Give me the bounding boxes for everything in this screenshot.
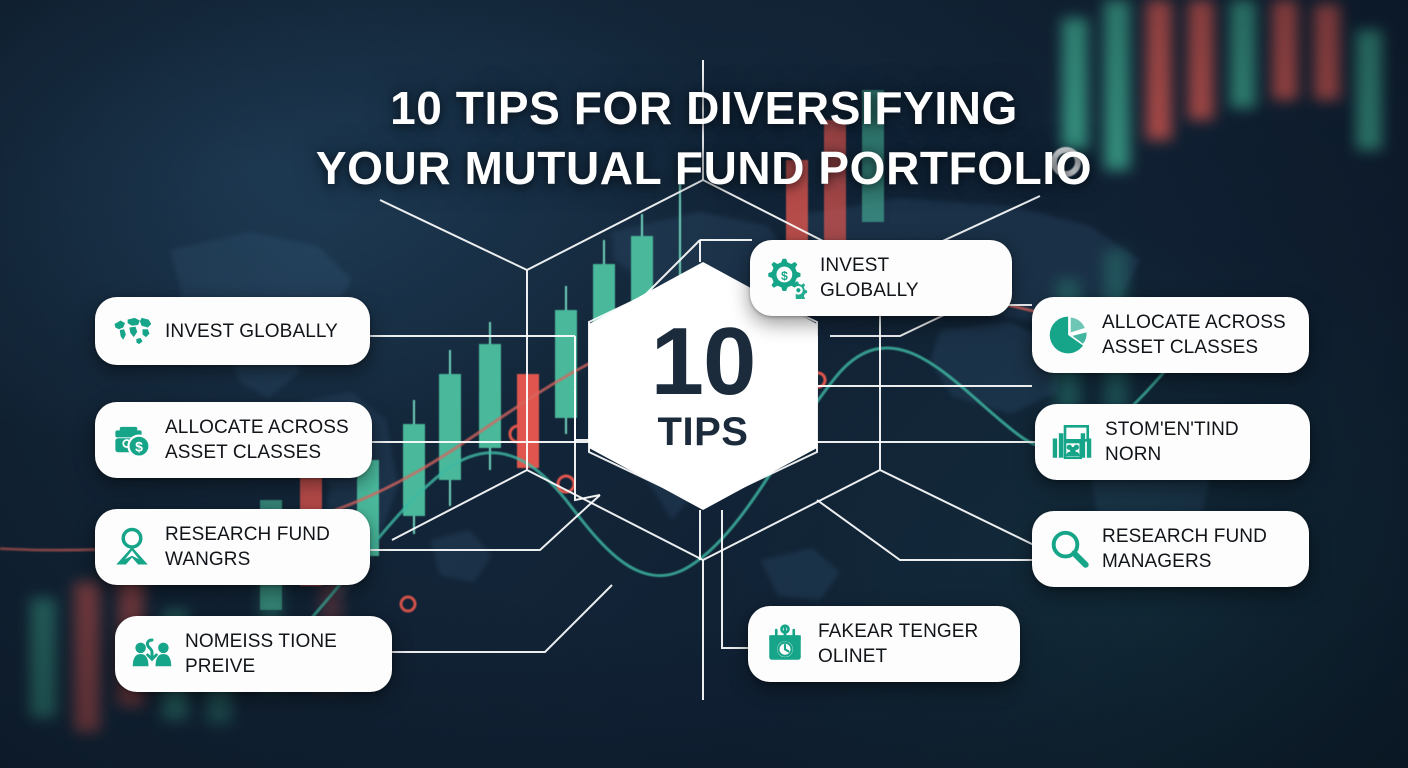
- tip-card-top-1[interactable]: $ INVEST GLOBALLY: [750, 240, 1012, 316]
- infographic-canvas: 10 TIPS FOR DIVERSIFYING YOUR MUTUAL FUN…: [0, 0, 1408, 768]
- tip-card-right-1-label: ALLOCATE ACROSS ASSET CLASSES: [1102, 310, 1286, 360]
- team-presentation-icon: [1051, 421, 1093, 463]
- hub-number: 10: [651, 317, 756, 407]
- world-map-icon: [111, 310, 153, 352]
- svg-text:$: $: [135, 438, 143, 454]
- tip-card-left-2-label: ALLOCATE ACROSS ASSET CLASSES: [165, 415, 349, 465]
- tip-card-right-3[interactable]: RESEARCH FUND MANAGERS: [1032, 511, 1309, 587]
- pie-chart-icon: [1048, 314, 1090, 356]
- calendar-clock-icon: [764, 623, 806, 665]
- fund-badge-icon: [111, 526, 153, 568]
- tip-card-top-1-label: INVEST GLOBALLY: [820, 253, 992, 303]
- tip-card-left-2[interactable]: $ ALLOCATE ACROSS ASSET CLASSES: [95, 402, 372, 478]
- svg-text:$: $: [781, 269, 788, 283]
- money-case-icon: $: [111, 419, 153, 461]
- tip-card-left-3-label: RESEARCH FUND WANGRS: [165, 522, 330, 572]
- magnifier-icon: [1048, 528, 1090, 570]
- tip-card-right-2[interactable]: STOM'EN'TIND NORN: [1035, 404, 1310, 480]
- tip-card-bottom-1-label: FAKEAR TENGER OLINET: [818, 619, 978, 669]
- tip-card-left-3[interactable]: RESEARCH FUND WANGRS: [95, 509, 370, 585]
- hub-label: TIPS: [658, 410, 749, 455]
- tip-card-left-4-label: NOMEISS TIONE PREIVE: [185, 629, 337, 679]
- gear-dollar-icon: $: [766, 257, 808, 299]
- tip-card-right-3-label: RESEARCH FUND MANAGERS: [1102, 524, 1267, 574]
- tip-card-bottom-1[interactable]: FAKEAR TENGER OLINET: [748, 606, 1020, 682]
- tip-card-left-1[interactable]: INVEST GLOBALLY: [95, 297, 370, 365]
- tip-card-left-1-label: INVEST GLOBALLY: [165, 319, 338, 344]
- tip-card-left-4[interactable]: NOMEISS TIONE PREIVE: [115, 616, 392, 692]
- tip-card-right-2-label: STOM'EN'TIND NORN: [1105, 417, 1239, 467]
- two-people-icon: [131, 633, 173, 675]
- tip-card-right-1[interactable]: ALLOCATE ACROSS ASSET CLASSES: [1032, 297, 1309, 373]
